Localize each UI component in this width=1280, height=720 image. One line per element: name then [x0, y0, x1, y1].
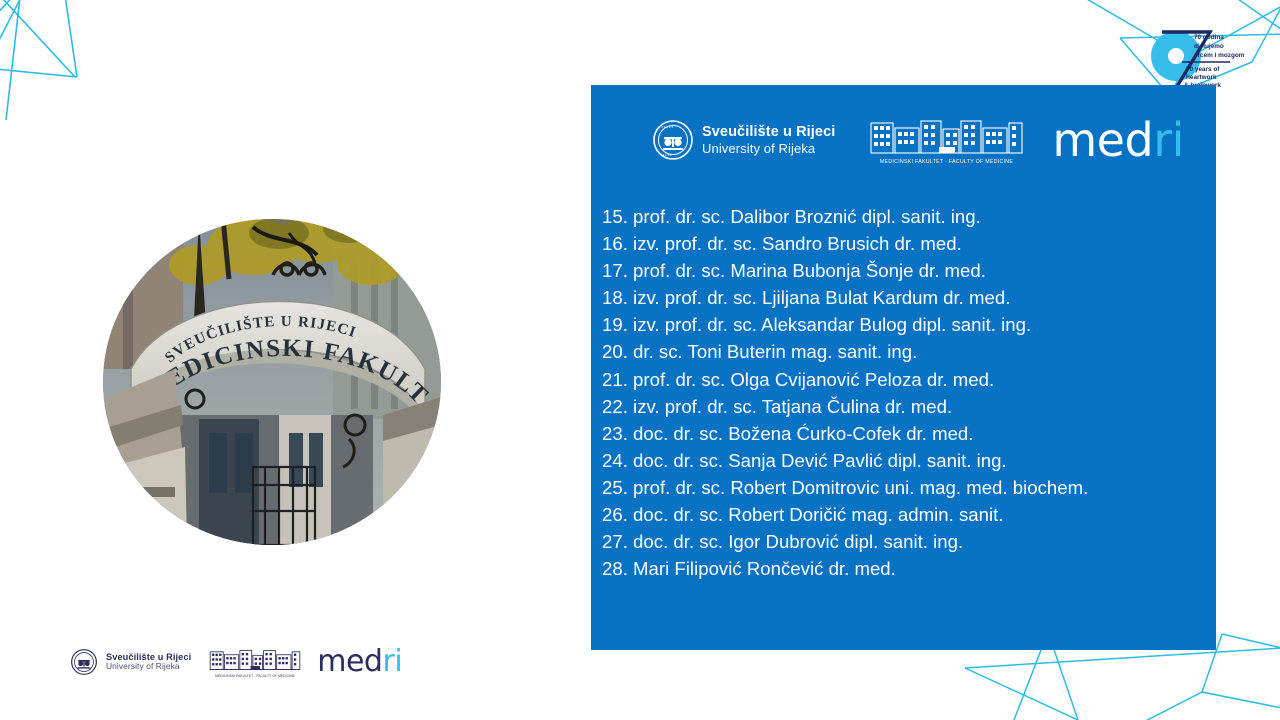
- footer-logo-lockup: Sveučilište u Rijeci University of Rijek…: [71, 643, 402, 681]
- slide-canvas: 70 godina djelujemo srcem i mozgom 70 ye…: [0, 0, 1280, 720]
- footer-faculty-building-logo: MEDICINSKI FAKULTET - FACULTY OF MEDICIN…: [209, 647, 301, 678]
- list-item: 23. doc. dr. sc. Božena Ćurko-Cofek dr. …: [602, 420, 1208, 447]
- footer-university-name: Sveučilište u Rijeci University of Rijek…: [106, 652, 191, 673]
- list-item: 18. izv. prof. dr. sc. Ljiljana Bulat Ka…: [602, 284, 1208, 311]
- university-name: Sveučilište u Rijeci University of Rijek…: [702, 124, 835, 156]
- people-list: 15. prof. dr. sc. Dalibor Broznić dipl. …: [602, 203, 1208, 582]
- content-panel: ∗∗∗∗∗ ∗∗∗∗ Sveučilište u Rijeci Universi…: [591, 85, 1216, 650]
- anniv-hr-line1: 70 godina: [1194, 34, 1224, 41]
- list-item: 21. prof. dr. sc. Olga Cvijanović Peloza…: [602, 366, 1208, 393]
- university-name-hr: Sveučilište u Rijeci: [702, 124, 835, 141]
- list-item: 20. dr. sc. Toni Buterin mag. sanit. ing…: [602, 338, 1208, 365]
- anniv-hr-line3: srcem i mozgom: [1194, 52, 1245, 59]
- list-item: 19. izv. prof. dr. sc. Aleksandar Bulog …: [602, 311, 1208, 338]
- list-item: 16. izv. prof. dr. sc. Sandro Brusich dr…: [602, 230, 1208, 257]
- medri-wordmark-primary: med: [1052, 113, 1153, 167]
- footer-university-name-en: University of Rijeka: [106, 662, 191, 672]
- svg-text:∗∗∗∗: ∗∗∗∗: [662, 153, 673, 157]
- anniversary-badge: 70 godina djelujemo srcem i mozgom 70 ye…: [1138, 14, 1280, 92]
- footer-medri-wordmark: medri: [317, 647, 402, 677]
- university-seal-icon: [71, 649, 97, 675]
- list-item: 26. doc. dr. sc. Robert Doričić mag. adm…: [602, 501, 1208, 528]
- footer-medri-wordmark-accent: ri: [382, 644, 402, 679]
- faculty-building-icon: [869, 115, 1024, 157]
- list-item: 24. doc. dr. sc. Sanja Dević Pavlić dipl…: [602, 447, 1208, 474]
- medri-wordmark-accent: ri: [1153, 113, 1184, 167]
- svg-text:∗∗∗∗∗: ∗∗∗∗∗: [661, 125, 674, 129]
- university-seal-icon: ∗∗∗∗∗ ∗∗∗∗: [653, 120, 693, 160]
- university-lockup: ∗∗∗∗∗ ∗∗∗∗ Sveučilište u Rijeci Universi…: [653, 120, 835, 160]
- faculty-building-icon: [209, 647, 301, 672]
- university-name-en: University of Rijeka: [702, 141, 835, 156]
- list-item: 27. doc. dr. sc. Igor Dubrović dipl. san…: [602, 528, 1208, 555]
- faculty-entrance-photo: SVEUČILIŠTE U RIJECI MEDICINSKI FAKULTET: [103, 219, 441, 545]
- faculty-caption: MEDICINSKI FAKULTET - FACULTY OF MEDICIN…: [868, 159, 1026, 165]
- footer-faculty-caption: MEDICINSKI FAKULTET - FACULTY OF MEDICIN…: [208, 674, 302, 678]
- panel-logo-lockup: ∗∗∗∗∗ ∗∗∗∗ Sveučilište u Rijeci Universi…: [653, 112, 1184, 168]
- footer-medri-wordmark-primary: med: [317, 644, 382, 679]
- anniv-en-line1: 70 years of: [1186, 66, 1220, 73]
- list-item: 15. prof. dr. sc. Dalibor Broznić dipl. …: [602, 203, 1208, 230]
- list-item: 28. Mari Filipović Rončević dr. med.: [602, 555, 1208, 582]
- footer-university-lockup: Sveučilište u Rijeci University of Rijek…: [71, 649, 191, 675]
- anniv-hr-line2: djelujemo: [1194, 43, 1224, 50]
- list-item: 22. izv. prof. dr. sc. Tatjana Čulina dr…: [602, 393, 1208, 420]
- list-item: 25. prof. dr. sc. Robert Domitrovic uni.…: [602, 474, 1208, 501]
- decorative-lines-top-left: [0, 0, 240, 200]
- medri-wordmark: medri: [1052, 117, 1184, 163]
- list-item: 17. prof. dr. sc. Marina Bubonja Šonje d…: [602, 257, 1208, 284]
- anniv-en-line2: heartwork: [1186, 74, 1217, 81]
- faculty-building-logo: MEDICINSKI FAKULTET - FACULTY OF MEDICIN…: [869, 115, 1024, 165]
